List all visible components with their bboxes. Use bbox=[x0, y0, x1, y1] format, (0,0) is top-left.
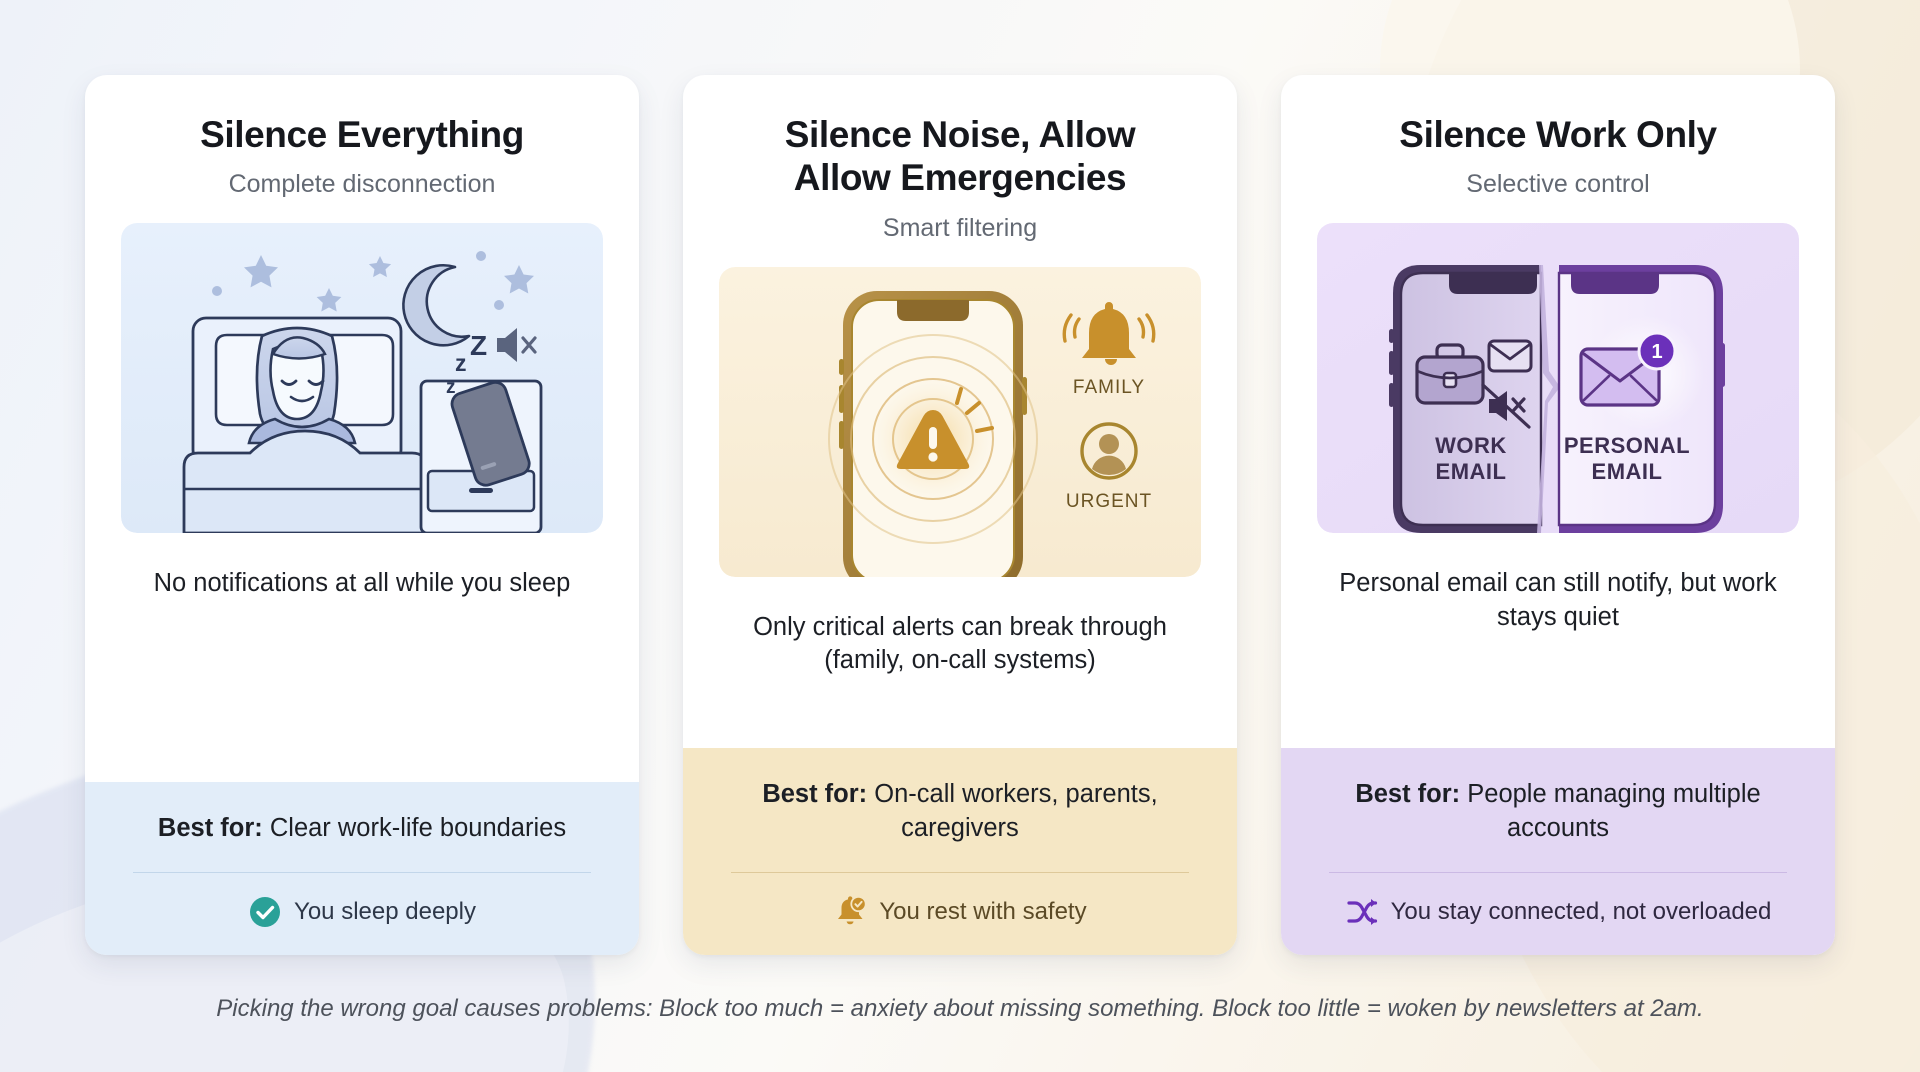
badge-family-label: FAMILY bbox=[1073, 377, 1145, 398]
badge-urgent-label: URGENT bbox=[1066, 491, 1152, 512]
zzz-text: Z bbox=[470, 330, 487, 361]
comparison-board: Silence Everything Complete disconnectio… bbox=[0, 0, 1920, 1072]
illustration-container: z z Z bbox=[119, 223, 605, 533]
personal-email-label-line2: EMAIL bbox=[1592, 459, 1663, 484]
card-title-line1: Silence Noise, Allow bbox=[785, 113, 1135, 156]
card-title: Silence Noise, Allow Allow Emergencies bbox=[785, 113, 1135, 200]
footer-divider bbox=[133, 872, 591, 873]
check-circle-icon bbox=[248, 895, 282, 929]
card-footer: Best for: Clear work-life boundaries You… bbox=[85, 782, 639, 955]
work-email-label-line1: WORK bbox=[1435, 433, 1507, 458]
split-phone-email-illustration: WORK EMAIL bbox=[1317, 223, 1799, 533]
best-for-value: People managing multiple accounts bbox=[1467, 780, 1760, 842]
card-title: Silence Everything bbox=[200, 113, 524, 156]
card-header: Silence Noise, Allow Allow Emergencies S… bbox=[683, 75, 1237, 748]
star-dot bbox=[212, 286, 222, 296]
card-silence-work-only[interactable]: Silence Work Only Selective control bbox=[1281, 75, 1835, 955]
best-for-row: Best for: People managing multiple accou… bbox=[1315, 778, 1801, 846]
best-for-row: Best for: Clear work-life boundaries bbox=[119, 812, 605, 846]
outcome-row: You rest with safety bbox=[717, 895, 1203, 929]
personal-email-label-line1: PERSONAL bbox=[1564, 433, 1690, 458]
card-header: Silence Work Only Selective control bbox=[1281, 75, 1835, 748]
card-description: No notifications at all while you sleep bbox=[154, 567, 571, 782]
zzz-text: z bbox=[455, 350, 467, 376]
best-for-label: Best for: bbox=[1355, 780, 1460, 808]
footer-divider bbox=[1329, 872, 1787, 873]
best-for-value: On-call workers, parents, caregivers bbox=[874, 780, 1157, 842]
zzz-text: z bbox=[446, 377, 456, 398]
best-for-value: Clear work-life boundaries bbox=[270, 814, 566, 842]
footer-caption: Picking the wrong goal causes problems: … bbox=[0, 995, 1920, 1023]
outcome-text: You sleep deeply bbox=[294, 898, 476, 926]
personal-email-pane: 1 PERSONAL EMAIL bbox=[1559, 265, 1725, 533]
footer-divider bbox=[731, 872, 1189, 873]
outcome-text: You rest with safety bbox=[879, 898, 1086, 926]
card-title: Silence Work Only bbox=[1399, 113, 1716, 156]
card-subtitle: Selective control bbox=[1466, 170, 1649, 199]
sleeping-person-illustration: z z Z bbox=[121, 223, 603, 533]
work-email-label-line2: EMAIL bbox=[1436, 459, 1507, 484]
illustration-container: FAMILY URGENT bbox=[717, 267, 1203, 577]
card-silence-everything[interactable]: Silence Everything Complete disconnectio… bbox=[85, 75, 639, 955]
outcome-row: You stay connected, not overloaded bbox=[1315, 895, 1801, 929]
card-title-line2: Allow Emergencies bbox=[785, 156, 1135, 199]
best-for-label: Best for: bbox=[762, 780, 867, 808]
work-email-pane: WORK EMAIL bbox=[1389, 265, 1541, 533]
card-silence-noise-allow-emergencies[interactable]: Silence Noise, Allow Allow Emergencies S… bbox=[683, 75, 1237, 955]
card-header: Silence Everything Complete disconnectio… bbox=[85, 75, 639, 782]
card-description: Only critical alerts can break through (… bbox=[723, 611, 1197, 749]
star-dot bbox=[476, 251, 486, 261]
card-subtitle: Complete disconnection bbox=[229, 170, 496, 199]
illustration-container: WORK EMAIL bbox=[1315, 223, 1801, 533]
star-dot bbox=[494, 300, 504, 310]
phone-notch bbox=[897, 300, 969, 321]
card-footer: Best for: On-call workers, parents, care… bbox=[683, 748, 1237, 955]
card-description: Personal email can still notify, but wor… bbox=[1321, 567, 1795, 748]
best-for-label: Best for: bbox=[158, 814, 263, 842]
notification-badge-count: 1 bbox=[1651, 341, 1662, 363]
outcome-text: You stay connected, not overloaded bbox=[1391, 898, 1772, 926]
priority-alerts-phone-illustration: FAMILY URGENT bbox=[719, 267, 1201, 577]
card-row: Silence Everything Complete disconnectio… bbox=[85, 75, 1835, 955]
outcome-row: You sleep deeply bbox=[119, 895, 605, 929]
shuffle-icon bbox=[1345, 895, 1379, 929]
best-for-row: Best for: On-call workers, parents, care… bbox=[717, 778, 1203, 846]
bell-check-icon bbox=[833, 895, 867, 929]
card-subtitle: Smart filtering bbox=[883, 214, 1037, 243]
card-footer: Best for: People managing multiple accou… bbox=[1281, 748, 1835, 955]
